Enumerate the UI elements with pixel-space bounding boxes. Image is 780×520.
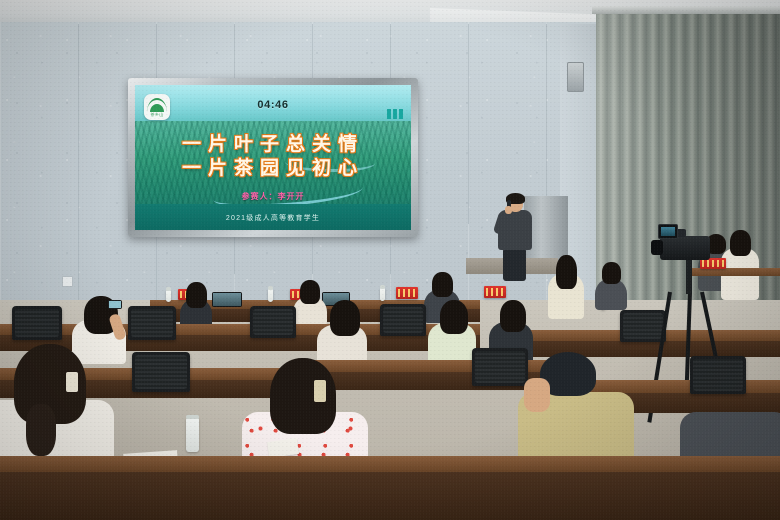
hair-clip bbox=[314, 380, 326, 402]
presenter-name-line: 参赛人：李开开 bbox=[135, 191, 411, 202]
logo-label: 茶乡山 bbox=[144, 112, 170, 118]
water-bottle bbox=[166, 290, 171, 302]
wall-seam bbox=[468, 24, 469, 224]
camera-lens bbox=[651, 240, 663, 255]
wall-seam bbox=[546, 24, 547, 224]
curtain-rail bbox=[592, 6, 780, 14]
video-camera[interactable] bbox=[660, 236, 710, 260]
chair[interactable] bbox=[250, 306, 296, 338]
chair[interactable] bbox=[12, 306, 62, 340]
name-placard bbox=[484, 286, 506, 298]
slide-title-line-2: 一片茶园见初心 bbox=[135, 153, 411, 180]
wall-loudspeaker bbox=[567, 62, 584, 92]
chair[interactable] bbox=[620, 310, 666, 342]
desk-row-mid-right-front bbox=[500, 341, 780, 357]
presentation-screen[interactable]: 茶乡山 04:46 一片叶子总关情 一片茶园见初心 参赛人：李开开 2021级成… bbox=[135, 85, 411, 230]
signal-bars-icon bbox=[387, 109, 403, 119]
countdown-timer: 04:46 bbox=[135, 99, 411, 111]
chair[interactable] bbox=[472, 348, 528, 386]
speaker-hand bbox=[505, 206, 512, 214]
water-bottle bbox=[186, 418, 199, 452]
slide-title-line-1: 一片叶子总关情 bbox=[135, 129, 411, 156]
display-bezel: 茶乡山 04:46 一片叶子总关情 一片茶园见初心 参赛人：李开开 2021级成… bbox=[128, 78, 418, 237]
desk-monitor bbox=[212, 292, 242, 307]
chair[interactable] bbox=[132, 352, 190, 392]
wall-seam bbox=[78, 24, 79, 320]
slide-subcaption: 2021级成人高等教育学生 bbox=[135, 213, 411, 223]
tripod-column bbox=[686, 258, 692, 294]
camera-lcd-screen bbox=[658, 224, 678, 239]
chair[interactable] bbox=[690, 356, 746, 394]
power-outlet bbox=[62, 276, 73, 287]
lecture-hall-photo: 茶乡山 04:46 一片叶子总关情 一片茶园见初心 参赛人：李开开 2021级成… bbox=[0, 0, 780, 520]
crew-desk bbox=[690, 268, 780, 276]
smartphone[interactable] bbox=[108, 300, 122, 309]
desk-row-foreground bbox=[0, 456, 780, 472]
chair[interactable] bbox=[128, 306, 176, 340]
desk-row-foreground-front bbox=[0, 472, 780, 520]
speaker-legs bbox=[503, 248, 526, 281]
water-bottle bbox=[268, 289, 273, 302]
chair[interactable] bbox=[380, 304, 426, 336]
name-placard bbox=[396, 287, 418, 299]
hair-clip bbox=[66, 372, 78, 392]
water-bottle bbox=[380, 288, 385, 301]
